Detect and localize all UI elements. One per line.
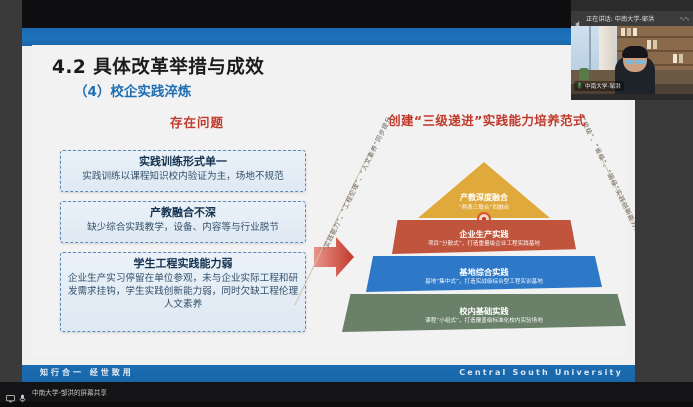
- app-top-strip: [22, 0, 635, 28]
- pyramid-tier-title: 产教深度融合: [460, 193, 508, 203]
- pyramid-tier-3: 基地综合实践 基地“集中式”，打造实战级综合型工程实训基地: [366, 256, 602, 292]
- bottom-status-bar: 中南大学-邹洪的屏幕共享: [0, 382, 693, 402]
- pyramid-tier-1: 产教深度融合 “两表三联合”四融合: [418, 162, 550, 218]
- participant-name-badge: 中南大学-邹洪: [574, 81, 624, 91]
- problem-card-body: 缺少综合实践教学，设备、内容等与行业脱节: [67, 221, 299, 234]
- eyeglass-right: [636, 60, 645, 64]
- person-hair: [622, 46, 648, 58]
- active-speaker-bar: 正在讲话: 中南大学-邹洪 ∿∿: [571, 11, 693, 26]
- pyramid-right-guide-line: [599, 154, 635, 305]
- problem-card: 学生工程实践能力弱 企业生产实习停留在单位参观，未与企业实际工程和研发需求挂钩，…: [60, 252, 306, 332]
- screen-share-status-label: 中南大学-邹洪的屏幕共享: [32, 387, 107, 397]
- pyramid-tier-title: 校内基础实践: [459, 306, 508, 316]
- slide-footer-motto: 知行合一 经世致用: [40, 367, 134, 378]
- pyramid-tier-subtitle: 课程“小组式”，打造覆盖级标准化校内实验场地: [425, 317, 543, 325]
- slide-subtitle: （4）校企实践淬炼: [74, 80, 191, 100]
- slide-footer: 知行合一 经世致用 Central South University: [22, 365, 635, 382]
- problem-card-title: 实践训练形式单一: [67, 155, 299, 169]
- three-level-pyramid-diagram: “实践能力”、“工程伦理”、“人文素养”同步提升 “校级”、“省级”、“国级”实…: [340, 136, 628, 341]
- problem-card-title: 学生工程实践能力弱: [67, 257, 299, 271]
- pyramid-tier-title: 企业生产实践: [459, 229, 508, 239]
- eyeglass-left: [625, 60, 634, 64]
- microphone-icon: [577, 82, 582, 90]
- problem-card-body: 企业生产实习停留在单位参观，未与企业实际工程和研发需求挂钩，学生实践创新能力弱，…: [67, 272, 299, 311]
- pyramid-right-axis-label: “校级”、“省级”、“国级”实践创新能力大赛获奖: [579, 116, 635, 254]
- slide-title: 4.2 具体改革举措与成效: [52, 53, 264, 79]
- left-column-header: 存在问题: [82, 112, 312, 131]
- slide-header-band: [22, 28, 635, 46]
- plant: [579, 68, 589, 80]
- presentation-slide: 4.2 具体改革举措与成效 （4）校企实践淬炼 存在问题 创建“三级递进”实践能…: [22, 28, 635, 382]
- participant-name-label: 中南大学-邹洪: [585, 82, 621, 90]
- problem-card-body: 实践训练以课程知识校内验证为主，场地不规范: [67, 170, 299, 183]
- problem-card-title: 产教融合不深: [67, 206, 299, 220]
- left-gutter: [0, 0, 22, 382]
- speaker-icon: [575, 14, 582, 23]
- audio-waveform-icon: ∿∿: [679, 15, 689, 23]
- pyramid-tier-4: 校内基础实践 课程“小组式”，打造覆盖级标准化校内实验场地: [342, 294, 626, 332]
- window-frame: [589, 26, 591, 76]
- right-gutter: [635, 100, 693, 382]
- active-speaker-label: 正在讲话: 中南大学-邹洪: [586, 14, 654, 23]
- pyramid-tier-subtitle: 项目“分散式”，打造重量级企业工程实践基地: [428, 240, 540, 248]
- problem-card: 产教融合不深 缺少综合实践教学，设备、内容等与行业脱节: [60, 201, 306, 243]
- pyramid-tier-title: 基地综合实践: [459, 267, 508, 277]
- meeting-app-window: 4.2 具体改革举措与成效 （4）校企实践淬炼 存在问题 创建“三级递进”实践能…: [0, 0, 693, 402]
- participant-video-tile[interactable]: 正在讲话: 中南大学-邹洪 ∿∿: [571, 0, 693, 100]
- slide-footer-university: Central South University: [459, 368, 623, 377]
- pyramid-tier-subtitle: “两表三联合”四融合: [459, 204, 510, 212]
- problem-card: 实践训练形式单一 实践训练以课程知识校内验证为主，场地不规范: [60, 150, 306, 192]
- video-feed[interactable]: 中南大学-邹洪: [571, 26, 693, 94]
- pyramid-tier-2: 企业生产实践 项目“分散式”，打造重量级企业工程实践基地: [392, 220, 576, 254]
- pyramid-tier-subtitle: 基地“集中式”，打造实战级综合型工程实训基地: [425, 278, 543, 286]
- microphone-icon[interactable]: [19, 388, 28, 396]
- monitor-icon: [6, 388, 15, 396]
- shared-screen-region[interactable]: 4.2 具体改革举措与成效 （4）校企实践淬炼 存在问题 创建“三级递进”实践能…: [22, 28, 635, 382]
